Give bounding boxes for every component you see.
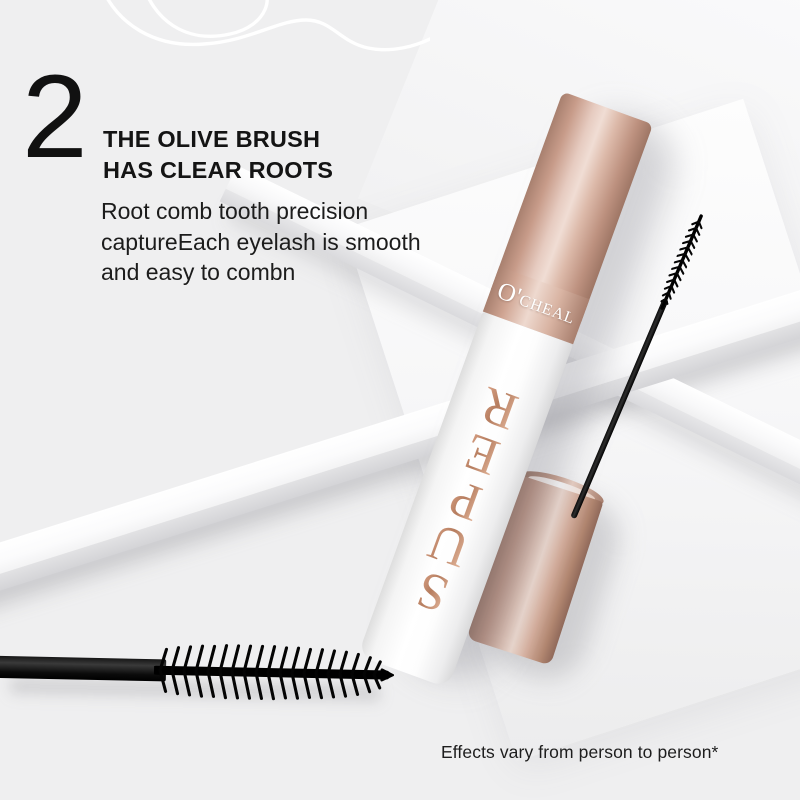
super-letter-s: S [412,565,454,615]
step-number: 2 [22,58,86,176]
body-copy-line-1: Root comb tooth precision [101,196,421,227]
marketing-image-canvas: 2 THE OLIVE BRUSH HAS CLEAR ROOTS Root c… [0,0,800,800]
body-copy: Root comb tooth precision captureEach ey… [101,196,421,288]
brush-bristles-icon [153,641,394,704]
horizontal-mascara-brush [0,636,395,706]
headline: THE OLIVE BRUSH HAS CLEAR ROOTS [103,124,333,185]
body-copy-line-2: captureEach eyelash is smooth [101,227,421,258]
headline-line-1: THE OLIVE BRUSH [103,124,333,155]
decorative-squiggle-icon [100,0,430,66]
headline-line-2: HAS CLEAR ROOTS [103,155,333,186]
body-copy-line-3: and easy to combn [101,257,421,288]
brush-handle [0,656,166,682]
disclaimer-text: Effects vary from person to person* [441,742,718,763]
